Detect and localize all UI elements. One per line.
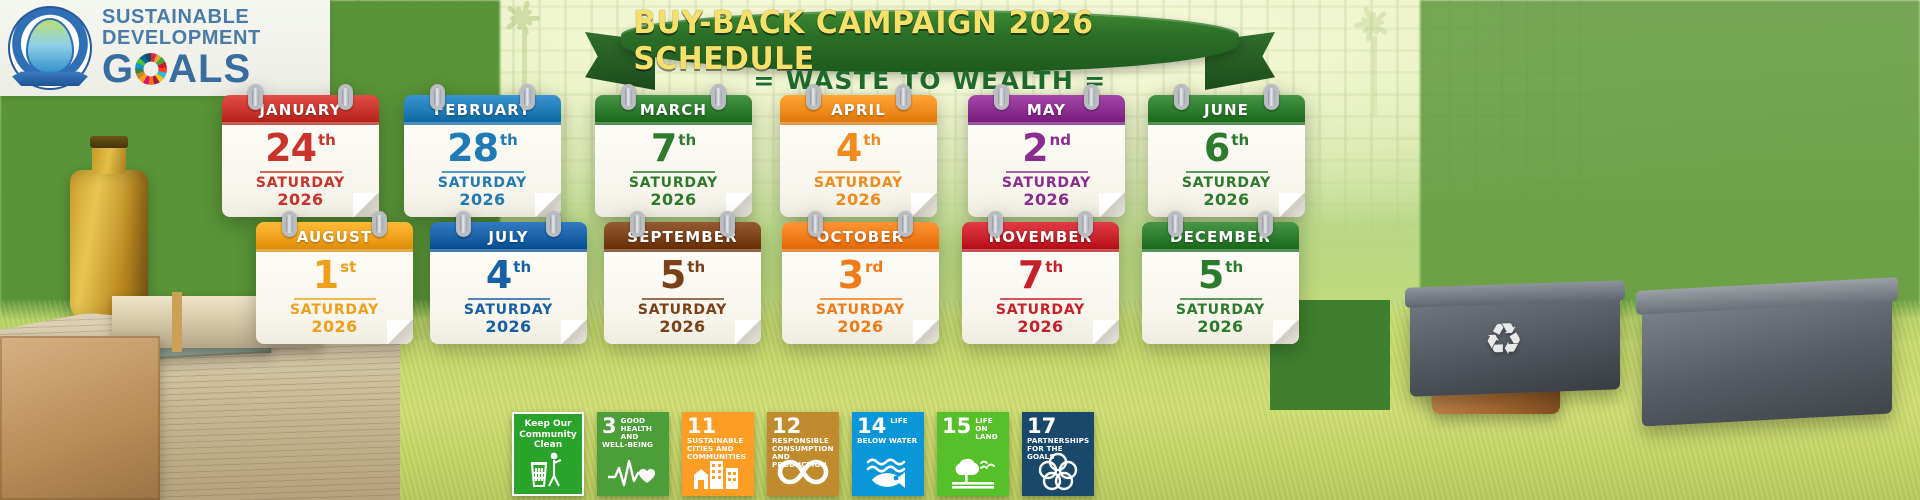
calendar-weekday-label: SATURDAY [1176,303,1265,318]
sdg-line-2: DEVELOPMENT [102,28,261,48]
calendar-card-header: DECEMBER [1142,222,1299,252]
sdg-goals-prefix: G [102,49,134,89]
sdg-badge-14[interactable]: 14LIFE BELOW WATER [852,412,924,496]
calendar-day-suffix: st [340,260,356,275]
calendar-card-body: 4thSATURDAY2026 [780,125,937,217]
calendar-divider [442,171,524,173]
logo-panel: MAJLIS BANDARAYA MIRI SUSTAINABLE DEVELO… [0,0,330,96]
calendar-day-suffix: th [687,260,705,275]
calendar-day-number: 24 [265,129,316,167]
binder-ring-right-icon [1078,211,1093,237]
calendar-weekday-label: SATURDAY [996,303,1085,318]
calendar-day-number: 5 [1198,256,1223,294]
calendar-weekday-label: SATURDAY [464,303,553,318]
calendar-day-suffix: nd [1050,133,1071,148]
calendar-card-body: 7thSATURDAY2026 [962,252,1119,344]
calendar-day-group: 3rd [838,256,884,294]
calendar-day-suffix: rd [865,260,883,275]
infinity-icon [767,451,839,493]
calendar-year-label: 2026 [835,191,881,209]
calendar-divider [642,298,724,300]
calendar-divider [818,171,900,173]
calendar-day-number: 2 [1022,129,1047,167]
calendar-card-march[interactable]: MARCH7thSATURDAY2026 [595,95,752,217]
calendar-card-body: 4thSATURDAY2026 [430,252,587,344]
cardboard-box-prop [0,336,160,500]
calendar-weekday-label: SATURDAY [629,176,718,191]
calendar-day-group: 1st [313,256,357,294]
calendar-day-number: 7 [1018,256,1043,294]
calendar-card-december[interactable]: DECEMBER5thSATURDAY2026 [1142,222,1299,344]
calendar-card-body: 7thSATURDAY2026 [595,125,752,217]
calendar-divider [1180,298,1262,300]
binder-ring-left-icon [988,211,1003,237]
calendar-divider [1006,171,1088,173]
sdg-badge-12[interactable]: 12RESPONSIBLE CONSUMPTION AND PRODUCTION [767,412,839,496]
sdg-badge-11[interactable]: 11SUSTAINABLE CITIES AND COMMUNITIES [682,412,754,496]
calendar-card-january[interactable]: JANUARY24thSATURDAY2026 [222,95,379,217]
calendar-card-body: 5thSATURDAY2026 [1142,252,1299,344]
calendar-year-label: 2026 [485,318,531,336]
calendar-weekday-label: SATURDAY [290,303,379,318]
banner-subtitle: = WASTE TO WEALTH = [585,66,1275,95]
calendar-card-header: MAY [968,95,1125,125]
calendar-day-suffix: th [863,133,881,148]
calendar-month-label: JUNE [1204,101,1249,119]
binder-ring-left-icon [430,84,445,110]
calendar-card-body: 24thSATURDAY2026 [222,125,379,217]
calendar-card-february[interactable]: FEBRUARY28thSATURDAY2026 [404,95,561,217]
rings-icon [1022,451,1094,493]
calendar-card-header: OCTOBER [782,222,939,252]
calendar-divider [468,298,550,300]
calendar-day-suffix: th [1045,260,1063,275]
binder-ring-left-icon [621,84,636,110]
sdg-goals-word: G ALS [102,49,261,89]
calendar-card-header: JANUARY [222,95,379,125]
calendar-day-number: 4 [486,256,511,294]
calendar-day-group: 7th [1018,256,1063,294]
binder-ring-right-icon [711,84,726,110]
calendar-card-header: NOVEMBER [962,222,1119,252]
calendar-day-number: 3 [838,256,863,294]
calendar-month-label: MAY [1027,101,1066,119]
sdg-badge-17[interactable]: 17PARTNERSHIPS FOR THE GOALS [1022,412,1094,496]
calendar-day-group: 5th [1198,256,1243,294]
banner: BUY-BACK CAMPAIGN 2026 SCHEDULE = WASTE … [585,6,1275,98]
calendar-month-label: JANUARY [259,101,341,119]
fish-icon [852,451,924,493]
calendar-day-group: 28th [447,129,518,167]
recycle-icon-bin-b: ♻ [1484,318,1523,363]
calendar-divider [1000,298,1082,300]
binder-ring-right-icon [1258,211,1273,237]
calendar-card-november[interactable]: NOVEMBER7thSATURDAY2026 [962,222,1119,344]
sdg-badge-number: 14 [857,417,886,437]
calendar-weekday-label: SATURDAY [438,176,527,191]
calendar-day-group: 24th [265,129,336,167]
binder-ring-right-icon [1084,84,1099,110]
sdg-badge-15[interactable]: 15LIFE ON LAND [937,412,1009,496]
calendar-card-header: JUNE [1148,95,1305,125]
calendar-weekday-label: SATURDAY [816,303,905,318]
litter-bin-icon [514,449,582,491]
council-crest-text: MAJLIS BANDARAYA MIRI [8,6,9,7]
calendar-day-number: 4 [836,129,861,167]
binder-ring-left-icon [994,84,1009,110]
calendar-day-group: 2nd [1022,129,1071,167]
binder-ring-left-icon [630,211,645,237]
calendar-card-august[interactable]: AUGUST1stSATURDAY2026 [256,222,413,344]
calendar-day-group: 4th [486,256,531,294]
calendar-divider [633,171,715,173]
binder-ring-right-icon [546,211,561,237]
calendar-day-suffix: th [318,133,336,148]
binder-ring-left-icon [806,84,821,110]
calendar-month-label: OCTOBER [817,228,905,246]
calendar-day-suffix: th [1231,133,1249,148]
sdg-badge-strip: Keep Our Community Clean3GOOD HEALTH AND… [512,412,1094,496]
calendar-day-number: 5 [660,256,685,294]
calendar-card-header: FEBRUARY [404,95,561,125]
calendar-divider [260,171,342,173]
calendar-card-body: 6thSATURDAY2026 [1148,125,1305,217]
heartbeat-icon [597,451,669,493]
calendar-year-label: 2026 [1017,318,1063,336]
calendar-year-label: 2026 [277,191,323,209]
sdg-badge-number: 15 [942,417,971,437]
calendar-day-group: 5th [660,256,705,294]
calendar-card-header: AUGUST [256,222,413,252]
calendar-day-number: 6 [1204,129,1229,167]
calendar-divider [820,298,902,300]
calendar-year-label: 2026 [650,191,696,209]
calendar-weekday-label: SATURDAY [638,303,727,318]
calendar-card-body: 28thSATURDAY2026 [404,125,561,217]
calendar-weekday-label: SATURDAY [1002,176,1091,191]
calendar-weekday-label: SATURDAY [814,176,903,191]
calendar-year-label: 2026 [837,318,883,336]
calendar-month-label: FEBRUARY [434,101,531,119]
calendar-day-number: 1 [313,256,338,294]
recycling-bin-secondary: ♻ [1410,294,1620,396]
calendar-card-october[interactable]: OCTOBER3rdSATURDAY2026 [782,222,939,344]
ribbon-main: BUY-BACK CAMPAIGN 2026 SCHEDULE [621,10,1239,72]
sdg-goals-suffix: ALS [168,49,251,89]
sdg-badge-keep-our-community-clean[interactable]: Keep Our Community Clean [512,412,584,496]
calendar-card-body: 1stSATURDAY2026 [256,252,413,344]
calendar-card-april[interactable]: APRIL4thSATURDAY2026 [780,95,937,217]
sdg-badge-3[interactable]: 3GOOD HEALTH AND WELL-BEING [597,412,669,496]
calendar-card-september[interactable]: SEPTEMBER5thSATURDAY2026 [604,222,761,344]
calendar-year-label: 2026 [459,191,505,209]
binder-ring-left-icon [248,84,263,110]
calendar-card-header: APRIL [780,95,937,125]
calendar-card-body: 2ndSATURDAY2026 [968,125,1125,217]
binder-ring-left-icon [282,211,297,237]
calendar-card-header: JULY [430,222,587,252]
sdg-badge-number: 3 [602,417,617,437]
calendar-month-label: MARCH [640,101,707,119]
binder-ring-left-icon [456,211,471,237]
binder-ring-right-icon [372,211,387,237]
calendar-day-group: 4th [836,129,881,167]
calendar-day-suffix: th [1225,260,1243,275]
calendar-day-group: 7th [651,129,696,167]
calendar-month-label: AUGUST [297,228,372,246]
calendar-month-label: NOVEMBER [989,228,1093,246]
calendar-card-body: 3rdSATURDAY2026 [782,252,939,344]
binder-ring-left-icon [808,211,823,237]
calendar-weekday-label: SATURDAY [1182,176,1271,191]
calendar-day-number: 7 [651,129,676,167]
sdg-line-1: SUSTAINABLE [102,7,261,27]
binder-ring-right-icon [338,84,353,110]
calendar-day-suffix: th [513,260,531,275]
binder-ring-left-icon [1174,84,1189,110]
recycling-bin-primary [1642,293,1892,426]
calendar-month-label: JULY [488,228,528,246]
calendar-day-suffix: th [500,133,518,148]
calendar-divider [294,298,376,300]
council-crest-icon: MAJLIS BANDARAYA MIRI [8,6,92,90]
calendar-day-number: 28 [447,129,498,167]
calendar-card-body: 5thSATURDAY2026 [604,252,761,344]
calendar-card-june[interactable]: JUNE6thSATURDAY2026 [1148,95,1305,217]
sdg-badge-number: 17 [1027,417,1056,437]
sdg-color-wheel-icon [135,53,167,85]
calendar-year-label: 2026 [659,318,705,336]
calendar-year-label: 2026 [1203,191,1249,209]
calendar-month-label: DECEMBER [1170,228,1271,246]
calendar-day-group: 6th [1204,129,1249,167]
calendar-day-suffix: th [678,133,696,148]
binder-ring-right-icon [520,84,535,110]
poster-canvas: ♻ ♻ MAJLIS BANDARAYA MIRI SUSTAINABLE DE… [0,0,1920,500]
binder-ring-right-icon [898,211,913,237]
calendar-year-label: 2026 [1023,191,1069,209]
binder-ring-right-icon [896,84,911,110]
calendar-divider [1186,171,1268,173]
sdg-badge-number: 11 [687,417,716,437]
binder-ring-right-icon [720,211,735,237]
binder-ring-left-icon [1168,211,1183,237]
calendar-year-label: 2026 [311,318,357,336]
sdg-badge-number: 12 [772,417,801,437]
city-icon [682,451,754,493]
calendar-card-header: MARCH [595,95,752,125]
windmill-icon-2 [1350,10,1402,120]
tree-icon [937,451,1009,493]
sdg-wordmark: SUSTAINABLE DEVELOPMENT G ALS [102,7,261,89]
calendar-card-header: SEPTEMBER [604,222,761,252]
calendar-weekday-label: SATURDAY [256,176,345,191]
sdg-badge-title: Keep Our Community Clean [519,419,577,451]
calendar-card-july[interactable]: JULY4thSATURDAY2026 [430,222,587,344]
calendar-card-may[interactable]: MAY2ndSATURDAY2026 [968,95,1125,217]
calendar-year-label: 2026 [1197,318,1243,336]
binder-ring-right-icon [1264,84,1279,110]
calendar-month-label: APRIL [831,101,886,119]
